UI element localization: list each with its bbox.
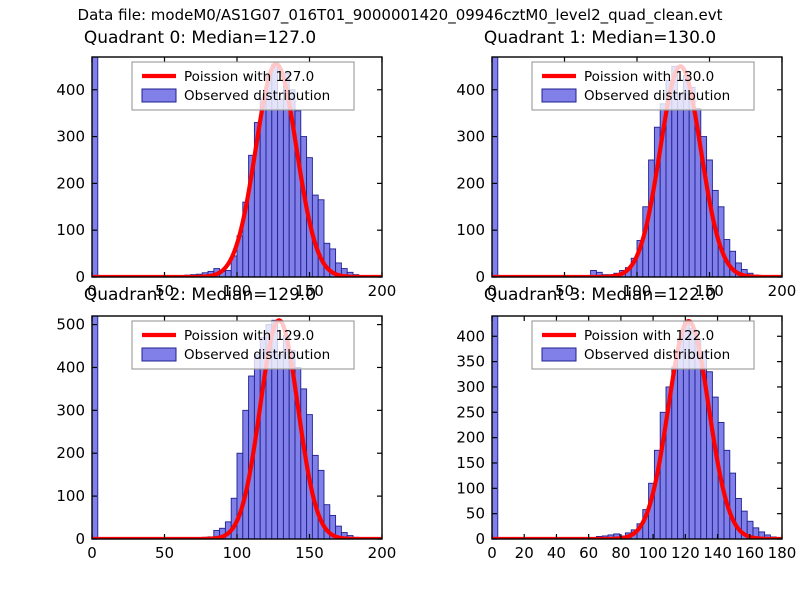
svg-text:0: 0 [487, 544, 497, 562]
svg-text:300: 300 [56, 128, 85, 146]
svg-text:Observed distribution: Observed distribution [184, 347, 330, 363]
svg-text:200: 200 [456, 429, 485, 447]
svg-text:Poission with 127.0: Poission with 127.0 [184, 69, 314, 85]
svg-text:0: 0 [87, 544, 97, 562]
svg-text:140: 140 [703, 544, 732, 562]
svg-text:100: 100 [56, 487, 85, 505]
svg-text:500: 500 [56, 316, 85, 334]
svg-text:400: 400 [56, 358, 85, 376]
legend-quadrant-3: Poission with 122.0Observed distribution [532, 321, 754, 369]
subplot-quadrant-3: Quadrant 3: Median=122.0 020406080100120… [400, 285, 800, 575]
svg-text:200: 200 [56, 174, 85, 192]
svg-text:180: 180 [768, 544, 797, 562]
axes-quadrant-1: 0501001502000100200300400Poission with 1… [400, 28, 800, 308]
axes-quadrant-0: 0501001502000100200300400Poission with 1… [0, 28, 400, 308]
svg-text:Poission with 122.0: Poission with 122.0 [584, 328, 714, 344]
svg-text:40: 40 [547, 544, 566, 562]
svg-text:200: 200 [56, 444, 85, 462]
svg-text:100: 100 [639, 544, 668, 562]
svg-text:200: 200 [456, 174, 485, 192]
subplot-quadrant-0: Quadrant 0: Median=127.0 050100150200010… [0, 28, 400, 308]
svg-text:50: 50 [155, 544, 174, 562]
axes-quadrant-3: 0204060801001201401601800501001502002503… [400, 285, 800, 575]
axes-quadrant-2: 0501001502000100200300400500Poission wit… [0, 285, 400, 575]
svg-text:200: 200 [368, 544, 397, 562]
svg-text:100: 100 [456, 221, 485, 239]
svg-text:Poission with 130.0: Poission with 130.0 [584, 69, 714, 85]
svg-text:120: 120 [671, 544, 700, 562]
figure-suptitle: Data file: modeM0/AS1G07_016T01_90000014… [0, 6, 800, 24]
svg-text:250: 250 [456, 403, 485, 421]
svg-text:Poission with 129.0: Poission with 129.0 [184, 328, 314, 344]
svg-text:20: 20 [515, 544, 534, 562]
svg-text:100: 100 [56, 221, 85, 239]
svg-text:Observed distribution: Observed distribution [184, 88, 330, 104]
svg-text:0: 0 [75, 268, 85, 286]
legend-quadrant-0: Poission with 127.0Observed distribution [132, 62, 354, 110]
svg-text:150: 150 [295, 544, 324, 562]
svg-text:100: 100 [456, 479, 485, 497]
subplot-quadrant-1: Quadrant 1: Median=130.0 050100150200010… [400, 28, 800, 308]
svg-text:80: 80 [611, 544, 630, 562]
svg-text:400: 400 [456, 327, 485, 345]
svg-text:Observed distribution: Observed distribution [584, 347, 730, 363]
svg-text:0: 0 [75, 530, 85, 548]
legend-quadrant-1: Poission with 130.0Observed distribution [532, 62, 754, 110]
svg-text:0: 0 [475, 530, 485, 548]
svg-text:300: 300 [456, 378, 485, 396]
svg-text:300: 300 [456, 128, 485, 146]
figure-canvas: Data file: modeM0/AS1G07_016T01_90000014… [0, 0, 800, 600]
svg-text:160: 160 [735, 544, 764, 562]
svg-text:0: 0 [475, 268, 485, 286]
svg-text:Observed distribution: Observed distribution [584, 88, 730, 104]
svg-text:300: 300 [56, 401, 85, 419]
svg-text:350: 350 [456, 353, 485, 371]
svg-text:100: 100 [223, 544, 252, 562]
svg-text:150: 150 [456, 454, 485, 472]
svg-text:60: 60 [579, 544, 598, 562]
svg-text:400: 400 [456, 81, 485, 99]
legend-quadrant-2: Poission with 129.0Observed distribution [132, 321, 354, 369]
svg-text:50: 50 [466, 505, 485, 523]
svg-text:400: 400 [56, 81, 85, 99]
subplot-quadrant-2: Quadrant 2: Median=129.0 050100150200010… [0, 285, 400, 575]
